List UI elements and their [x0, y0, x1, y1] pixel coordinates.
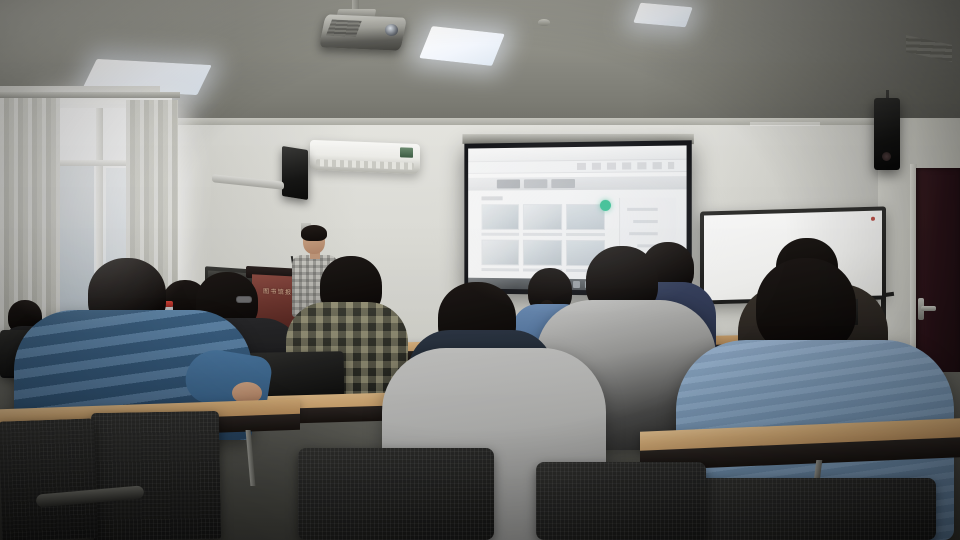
taskbar-icon — [573, 281, 580, 288]
site-tab-1 — [497, 179, 520, 188]
curtain-rod — [0, 92, 180, 98]
thumbnail-image — [566, 204, 605, 230]
site-tab-3 — [551, 179, 575, 188]
air-conditioner-icon — [310, 140, 420, 174]
classroom-presentation-photo: 图书馆报告厅 — [0, 0, 960, 540]
chair-front-center[interactable] — [298, 448, 494, 540]
thumbnail-item — [523, 240, 562, 272]
thumbnail-image — [523, 204, 562, 230]
site-tab-2 — [524, 179, 547, 188]
presenter-hair — [301, 225, 327, 241]
attendee-glasses-icon — [236, 296, 252, 303]
browser-toolbar-items — [577, 162, 674, 170]
thumbnail-item — [482, 204, 520, 236]
wall-speaker-right-icon — [874, 98, 900, 170]
thumbnail-caption — [482, 268, 520, 271]
chair-front-right[interactable] — [684, 478, 936, 540]
wall-light-reflection — [750, 122, 820, 126]
whiteboard-magnet-icon — [871, 217, 875, 221]
thumbnail-image — [482, 240, 520, 266]
thumbnail-caption — [566, 233, 605, 236]
projector-vent — [326, 20, 362, 37]
thumbnail-item — [566, 204, 605, 236]
thumbnail-caption — [523, 233, 562, 236]
thumbnail-image — [523, 240, 562, 266]
sidebar-row — [633, 220, 657, 223]
sidebar-row — [629, 232, 658, 235]
thumbnail-caption — [482, 233, 520, 236]
door-handle-icon[interactable] — [921, 306, 936, 311]
smoke-detector-icon — [538, 19, 550, 26]
ac-louvre-vent — [316, 159, 414, 170]
image-thumbnail-grid — [482, 204, 605, 272]
thumbnail-item — [523, 204, 562, 236]
chair-front-left[interactable] — [91, 411, 221, 540]
chair-foreground-left[interactable] — [0, 418, 98, 540]
ac-display-badge — [400, 147, 413, 157]
wall-speaker-left-icon — [282, 146, 308, 200]
sidebar-row — [627, 208, 658, 211]
chair-front-center-right[interactable] — [536, 462, 706, 540]
thumbnail-item — [482, 240, 520, 272]
content-section-label — [482, 196, 503, 200]
thumbnail-image — [482, 204, 520, 230]
accent-badge-icon — [600, 200, 611, 211]
